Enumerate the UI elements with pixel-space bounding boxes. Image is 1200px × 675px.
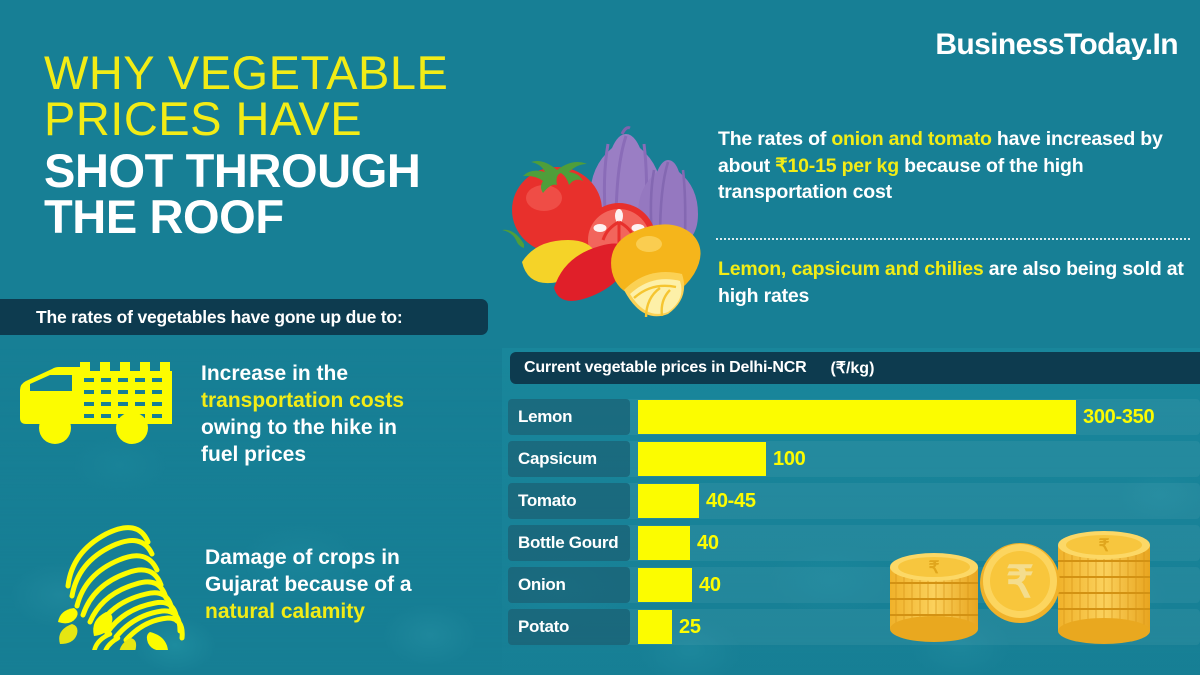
svg-text:₹: ₹ [1006,558,1034,607]
note1-part1: The rates of [718,128,831,150]
price-bar [638,400,1076,434]
page-title: WHY VEGETABLE PRICES HAVE SHOT THROUGH T… [44,50,514,240]
price-chart-header: Current vegetable prices in Delhi-NCR (₹… [510,352,1200,384]
price-row: Capsicum100 [508,438,1200,480]
price-bar [638,484,699,518]
right-note-onion-tomato: The rates of onion and tomato have incre… [718,126,1188,206]
svg-text:₹: ₹ [1099,536,1110,555]
row-label-text: Lemon [518,407,572,427]
reason2-part1: Damage of crops in Gujarat because of a [205,546,412,596]
coins-illustration: ₹ ₹ [868,505,1168,660]
price-value-label: 25 [679,610,701,644]
reason-crop-damage-text: Damage of crops in Gujarat because of a … [205,520,420,625]
note2-highlight1: Lemon, capsicum and chilies [718,258,984,280]
row-label-cell: Tomato [508,483,630,519]
right-note-2-text: Lemon, capsicum and chilies are also bei… [718,256,1188,309]
row-label-text: Tomato [518,491,576,511]
truck-svg [14,352,179,452]
price-bar [638,526,690,560]
row-label-text: Potato [518,617,569,637]
reason1-part2: owing to the hike in fuel prices [201,416,397,466]
reason1-part1: Increase in the [201,362,348,385]
row-label-cell: Lemon [508,399,630,435]
row-label-cell: Potato [508,609,630,645]
price-row: Lemon300-350 [508,396,1200,438]
title-line-4: THE ROOF [44,194,514,240]
note1-highlight2: ₹10-15 per kg [775,155,899,177]
storm-svg [50,520,185,650]
reasons-header-ribbon: The rates of vegetables have gone up due… [0,299,488,335]
reason2-highlight: natural calamity [205,600,365,623]
right-note-lemon-capsicum: Lemon, capsicum and chilies are also bei… [718,256,1188,309]
price-bar [638,610,672,644]
vegetables-illustration [494,112,709,322]
row-label-text: Capsicum [518,449,597,469]
storm-crop-icon [50,520,185,650]
title-line-3: SHOT THROUGH [44,148,514,194]
row-label-text: Bottle Gourd [518,533,618,553]
price-chart-unit: (₹/kg) [830,358,874,378]
svg-text:₹: ₹ [929,558,940,577]
reason-crop-damage: Damage of crops in Gujarat because of a … [50,520,420,650]
price-value-label: 40 [697,526,719,560]
right-note-1-text: The rates of onion and tomato have incre… [718,126,1188,206]
price-value-label: 40-45 [706,484,756,518]
dotted-divider [716,238,1190,240]
title-line-1: WHY VEGETABLE [44,50,514,96]
price-chart-title: Current vegetable prices in Delhi-NCR [524,359,806,377]
price-bar [638,568,692,602]
price-value-label: 100 [773,442,805,476]
note1-highlight1: onion and tomato [831,128,991,150]
reason-transportation-text: Increase in the transportation costs owi… [201,352,431,468]
price-value-label: 300-350 [1083,400,1154,434]
row-label-cell: Capsicum [508,441,630,477]
row-label-text: Onion [518,575,566,595]
reason-transportation: Increase in the transportation costs owi… [14,352,431,468]
brand-logo: BusinessToday.In [935,28,1178,62]
coins-svg: ₹ ₹ [868,505,1168,655]
truck-icon [14,352,179,452]
infographic-canvas: BusinessToday.In WHY VEGETABLE PRICES HA… [0,0,1200,675]
price-bar [638,442,766,476]
row-label-cell: Onion [508,567,630,603]
price-value-label: 40 [699,568,721,602]
row-label-cell: Bottle Gourd [508,525,630,561]
reason1-highlight: transportation costs [201,389,404,412]
vegetables-svg [494,112,709,317]
reasons-header-text: The rates of vegetables have gone up due… [36,307,403,328]
title-line-2: PRICES HAVE [44,96,514,142]
